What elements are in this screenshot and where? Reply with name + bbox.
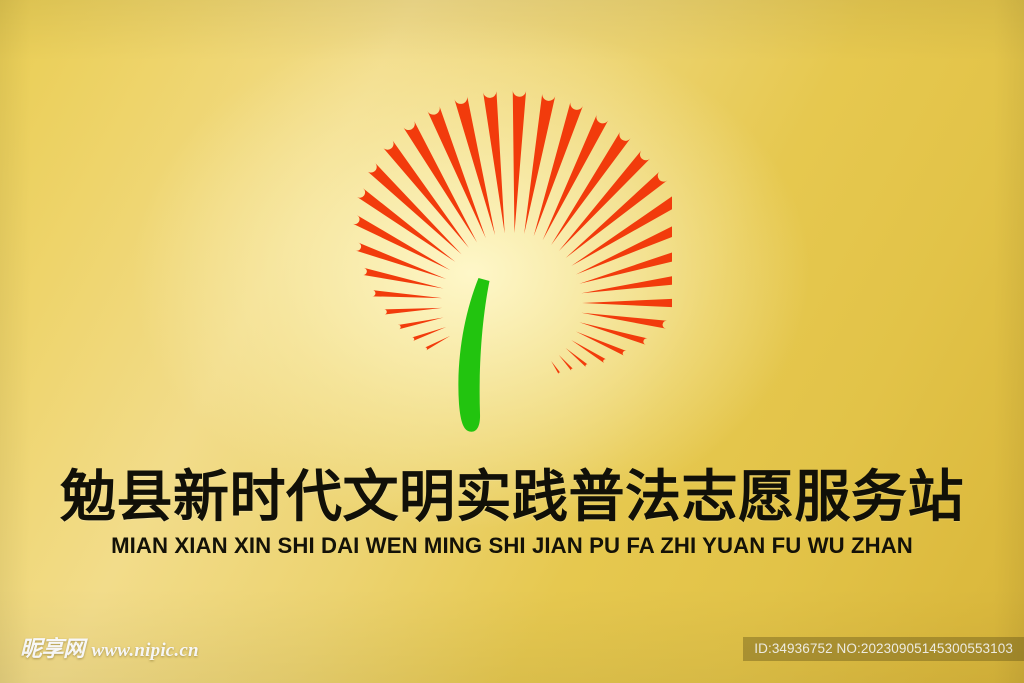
title-block: 勉县新时代文明实践普法志愿服务站 MIAN XIAN XIN SHI DAI W… (0, 468, 1024, 559)
id-badge: ID:34936752 NO:20230905145300553103 (743, 637, 1024, 662)
poster-canvas: 勉县新时代文明实践普法志愿服务站 MIAN XIAN XIN SHI DAI W… (0, 0, 1024, 683)
logo-ray-4 (372, 290, 442, 298)
logo-ray-5 (363, 268, 444, 289)
logo-ray-16 (524, 93, 555, 234)
page-title-pinyin: MIAN XIAN XIN SHI DAI WEN MING SHI JIAN … (8, 533, 1017, 559)
logo-ray-25 (581, 273, 672, 294)
watermark-url: www.nipic.cn (92, 641, 199, 661)
logo-ray-2 (398, 318, 443, 330)
logo-ray-3 (384, 308, 442, 315)
logo-ray-28 (579, 322, 647, 344)
logo-ray-32 (559, 355, 573, 371)
logo-ray-15 (513, 90, 526, 233)
logo-ray-33 (551, 361, 560, 374)
logo-ray-0 (425, 336, 450, 350)
logo-stem (458, 278, 489, 432)
logo-ray-23 (576, 219, 672, 275)
watermark-logo-text: 昵享网 (20, 639, 85, 661)
logo-ray-1 (412, 327, 446, 341)
page-title-chinese: 勉县新时代文明实践普法志愿服务站 (0, 468, 1024, 528)
watermark: 昵享网 www.nipic.cn (20, 639, 199, 661)
dandelion-burst-logo (352, 78, 672, 458)
logo-rays (353, 90, 672, 374)
logo-ray-14 (483, 90, 505, 233)
logo-container (0, 78, 1024, 458)
logo-ray-26 (582, 298, 672, 307)
logo-ray-31 (566, 348, 588, 367)
